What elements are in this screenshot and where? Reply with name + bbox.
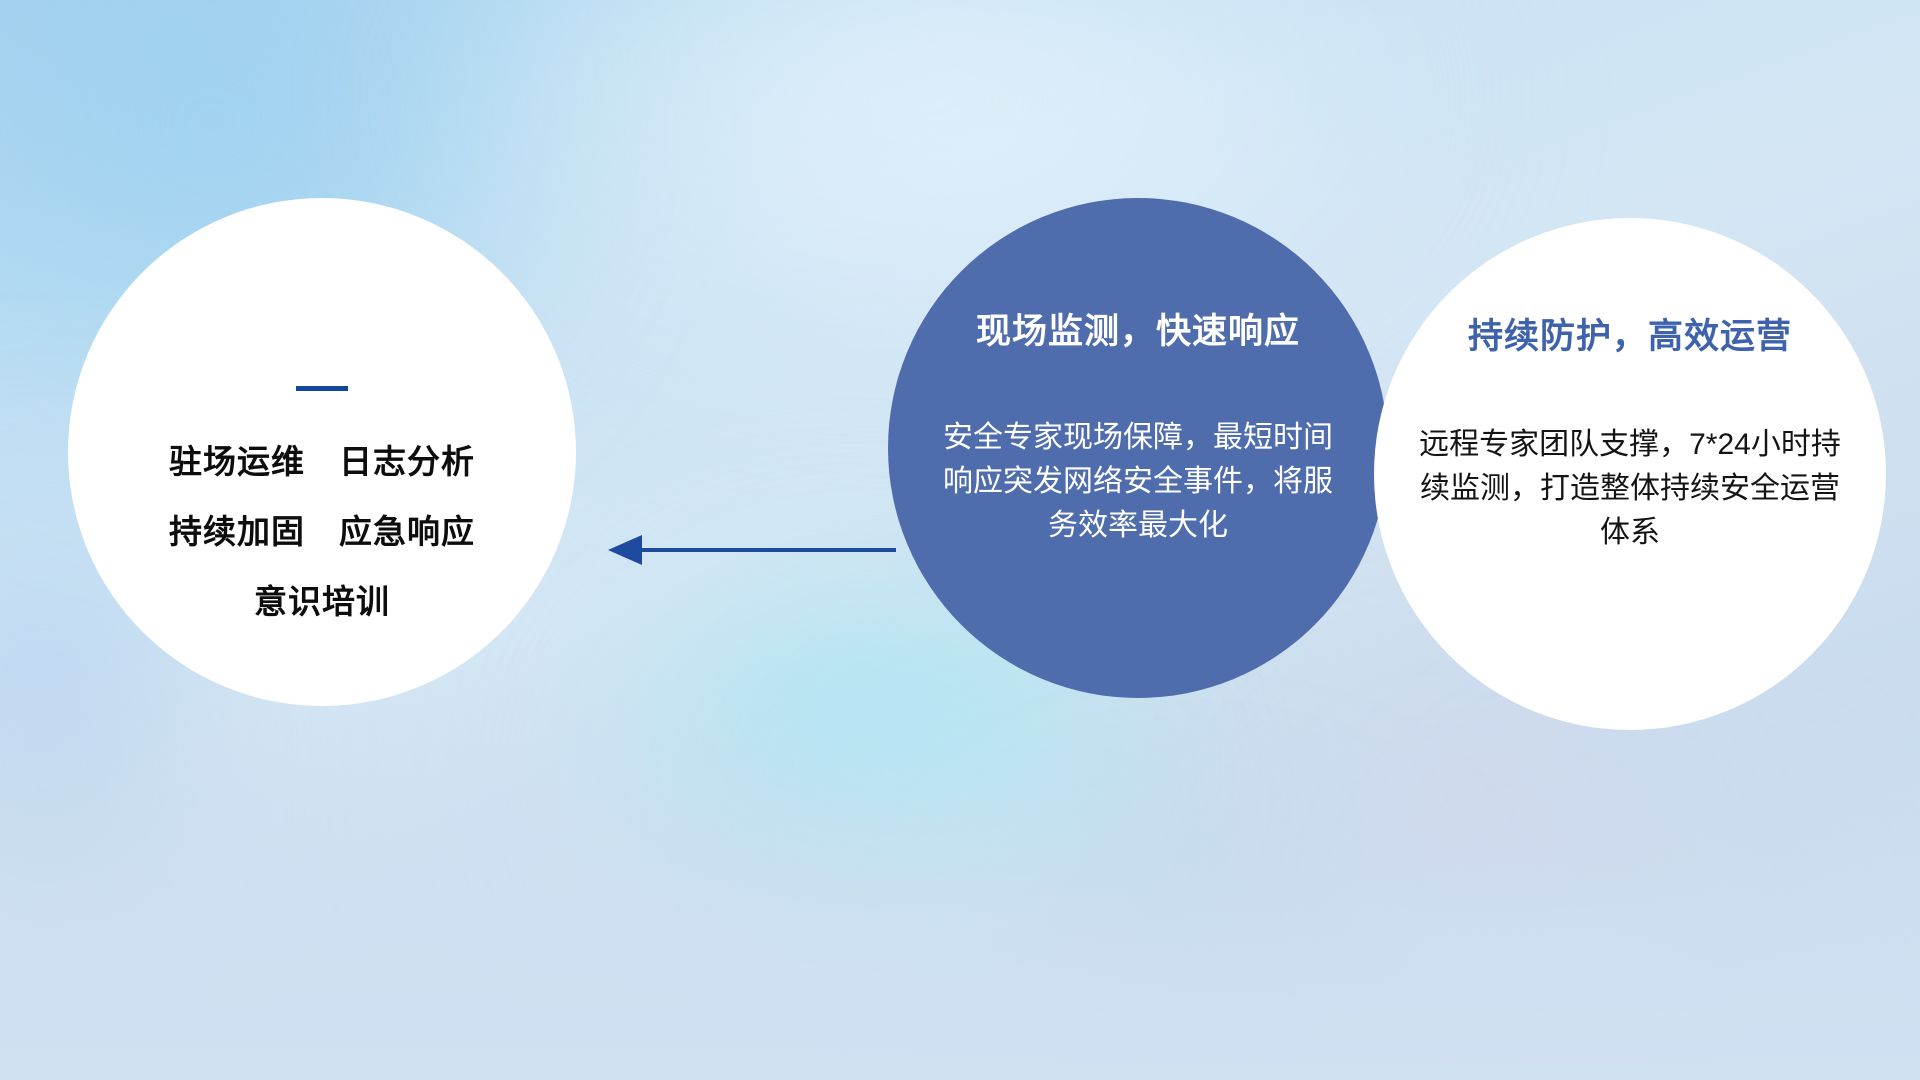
accent-dash-icon xyxy=(296,386,348,391)
capability-tag: 日志分析 xyxy=(339,435,475,483)
capability-tag: 应急响应 xyxy=(339,505,475,553)
capability-row-2: 持续加固 应急响应 xyxy=(68,505,576,553)
onsite-capability-circle[interactable]: 驻场运维 日志分析 持续加固 应急响应 意识培训 xyxy=(68,198,576,706)
capability-tag: 驻场运维 xyxy=(169,435,305,483)
arrow-head-icon xyxy=(608,535,642,565)
capability-row-1: 驻场运维 日志分析 xyxy=(68,435,576,483)
capability-tag: 持续加固 xyxy=(169,505,305,553)
onsite-monitoring-body: 安全专家现场保障，最短时间响应突发网络安全事件，将服务效率最大化 xyxy=(940,416,1336,547)
continuous-protection-circle[interactable]: 持续防护，高效运营 远程专家团队支撑，7*24小时持续监测，打造整体持续安全运营… xyxy=(1374,218,1886,730)
continuous-protection-body: 远程专家团队支撑，7*24小时持续监测，打造整体持续安全运营体系 xyxy=(1412,423,1848,554)
capability-tag: 意识培训 xyxy=(254,575,390,623)
capability-row-3: 意识培训 xyxy=(68,575,576,623)
slide-canvas: 驻场运维 日志分析 持续加固 应急响应 意识培训 现场监测，快速响应 安全专家现… xyxy=(0,0,1920,1080)
capability-tag-group: 驻场运维 日志分析 持续加固 应急响应 意识培训 xyxy=(68,386,576,645)
onsite-monitoring-circle[interactable]: 现场监测，快速响应 安全专家现场保障，最短时间响应突发网络安全事件，将服务效率最… xyxy=(888,198,1388,698)
continuous-protection-title: 持续防护，高效运营 xyxy=(1374,308,1886,359)
leftward-flow-arrow xyxy=(600,512,900,588)
onsite-monitoring-title: 现场监测，快速响应 xyxy=(888,303,1388,354)
